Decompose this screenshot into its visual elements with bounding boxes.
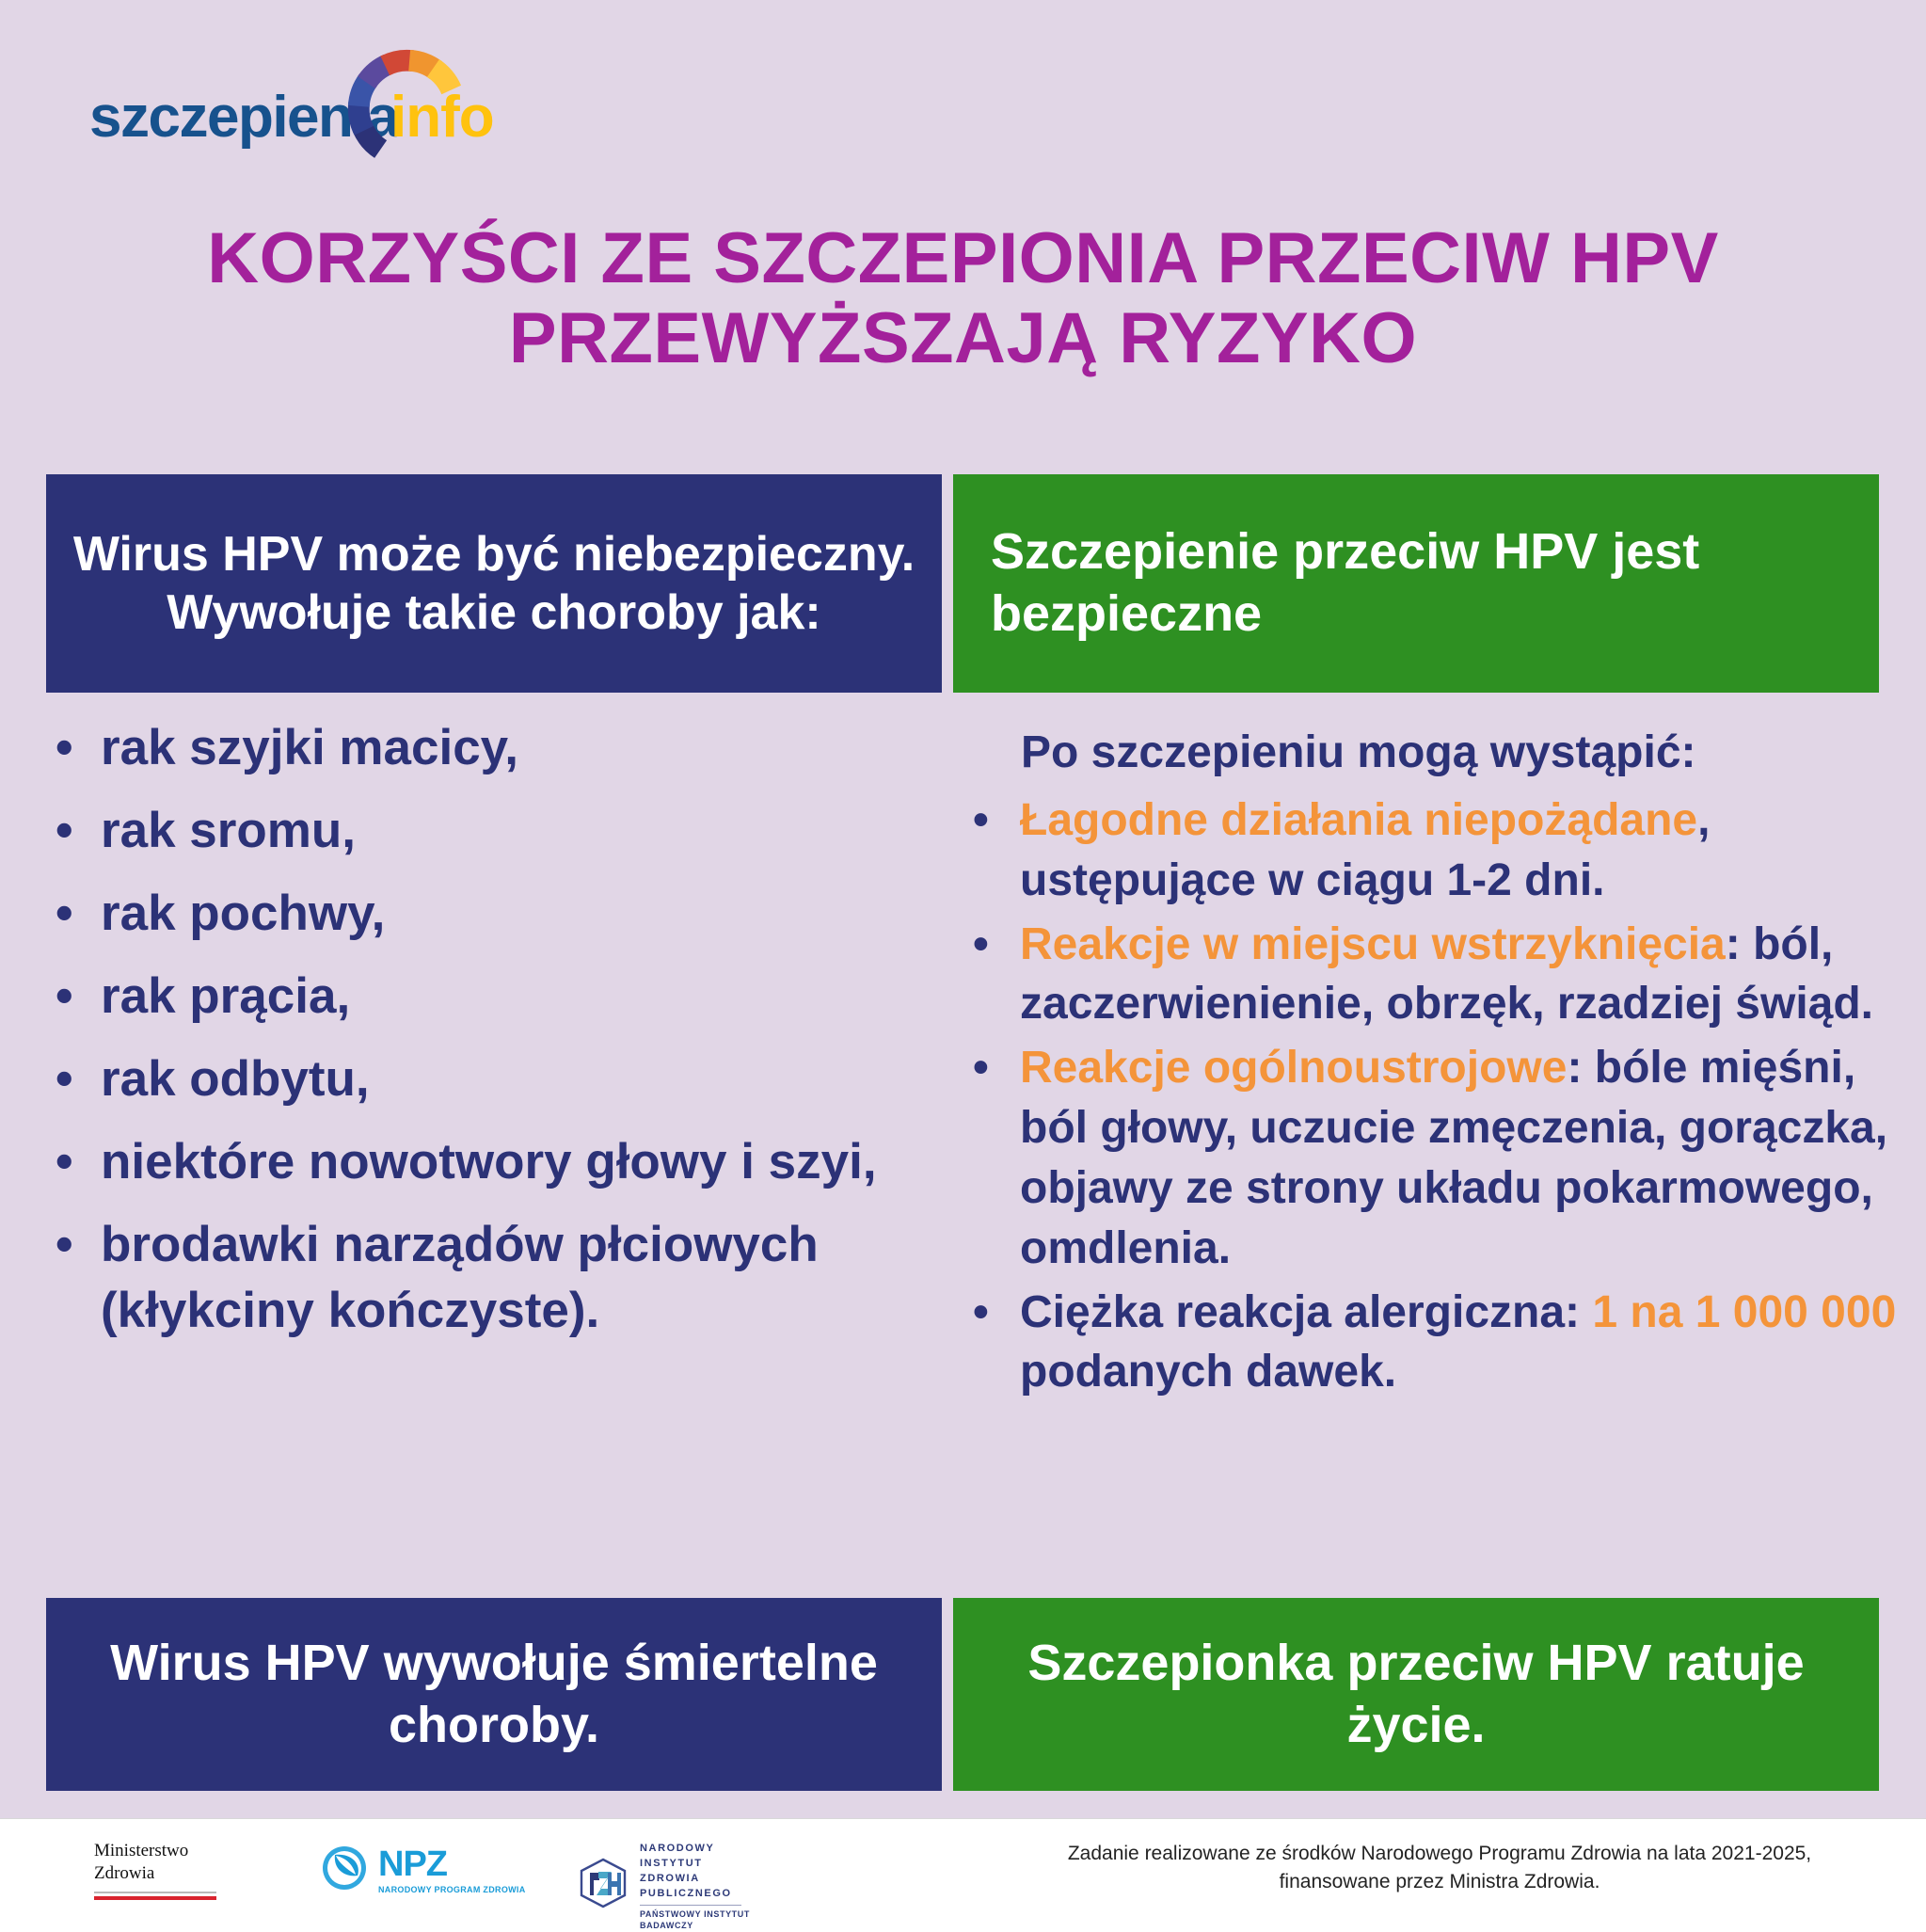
polish-flag-white-rule-icon <box>94 1892 216 1893</box>
list-item: rak sromu, <box>46 798 949 864</box>
list-item-label: rak odbytu, <box>101 1051 370 1107</box>
list-item-highlight: Łagodne działania niepożądane <box>1020 795 1697 845</box>
pzh-line3: ZDROWIA <box>640 1872 750 1887</box>
list-item: Ciężka reakcja alergiczna: 1 na 1 000 00… <box>960 1283 1901 1403</box>
left-panel-footer: Wirus HPV wywołuje śmiertelne choroby. <box>46 1598 942 1791</box>
right-panel-header: Szczepienie przeciw HPV jest bezpieczne <box>953 474 1879 693</box>
pzh-text: NARODOWY INSTYTUT ZDROWIA PUBLICZNEGO PA… <box>640 1842 750 1932</box>
list-item: rak odbytu, <box>46 1046 949 1112</box>
pzh-divider <box>640 1905 741 1906</box>
page-title-line2: PRZEWYŻSZAJĄ RYZYKO <box>0 298 1926 378</box>
funding-line1: Zadanie realizowane ze środków Narodoweg… <box>1016 1840 1863 1868</box>
list-item-prefix: Ciężka reakcja alergiczna: <box>1020 1287 1592 1337</box>
list-item-label: rak sromu, <box>101 803 356 858</box>
brand-info-wordmark: info <box>390 88 494 147</box>
list-item-highlight: Reakcje w miejscu wstrzyknięcia <box>1020 919 1726 969</box>
brand-logo[interactable]: szczepienia info <box>89 45 579 172</box>
side-effects-intro: Po szczepieniu mogą wystąpić: <box>1021 725 1896 781</box>
page-title: KORZYŚCI ZE SZCZEPIONIA PRZECIW HPV PRZE… <box>0 218 1926 378</box>
list-item: Reakcje w miejscu wstrzyknięcia: ból, za… <box>960 915 1901 1035</box>
funding-line2: finansowane przez Ministra Zdrowia. <box>1016 1868 1863 1896</box>
list-item-label: podanych dawek. <box>1020 1347 1396 1397</box>
list-item-label: niektóre nowotwory głowy i szyi, <box>101 1134 877 1190</box>
left-panel-footer-text: Wirus HPV wywołuje śmiertelne choroby. <box>69 1633 919 1757</box>
pzh-line4: PUBLICZNEGO <box>640 1887 750 1902</box>
list-item: brodawki narządów płciowych (kłykciny ko… <box>46 1212 949 1344</box>
pzh-logo: NARODOWY INSTYTUT ZDROWIA PUBLICZNEGO PA… <box>576 1842 750 1932</box>
disease-list: rak szyjki macicy, rak sromu, rak pochwy… <box>46 715 949 1361</box>
list-item-label: rak szyjki macicy, <box>101 720 518 775</box>
list-item: rak pochwy, <box>46 881 949 947</box>
left-panel-header: Wirus HPV może być niebezpieczny. Wywołu… <box>46 474 942 693</box>
right-panel-footer: Szczepionka przeciw HPV ratuje życie. <box>953 1598 1879 1791</box>
npz-text: NPZ NARODOWY PROGRAM ZDROWIA <box>378 1846 526 1894</box>
ministry-name-line1: Ministerstwo <box>94 1840 282 1862</box>
ministry-of-health-logo: Ministerstwo Zdrowia <box>94 1840 282 1900</box>
side-effects-list: Łagodne działania niepożądane, ustępując… <box>960 790 1901 1406</box>
pzh-line2: INSTYTUT <box>640 1857 750 1872</box>
npz-acronym: NPZ <box>378 1846 526 1882</box>
list-item-highlight: 1 na 1 000 000 <box>1592 1287 1896 1337</box>
page-title-line1: KORZYŚCI ZE SZCZEPIONIA PRZECIW HPV <box>0 218 1926 298</box>
list-item: Reakcje ogólnoustrojowe: bóle mięśni, bó… <box>960 1038 1901 1278</box>
pzh-sub1: PAŃSTWOWY INSTYTUT <box>640 1908 750 1921</box>
list-item-highlight: Reakcje ogólnoustrojowe <box>1020 1043 1567 1093</box>
npz-logo: NPZ NARODOWY PROGRAM ZDROWIA <box>320 1844 526 1897</box>
list-item: niektóre nowotwory głowy i szyi, <box>46 1129 949 1195</box>
polish-flag-red-rule-icon <box>94 1896 216 1900</box>
list-item-label: rak prącia, <box>101 968 350 1024</box>
footer-bar: Ministerstwo Zdrowia NPZ NARODOWY PROGRA… <box>0 1818 1926 1927</box>
pzh-line1: NARODOWY <box>640 1842 750 1857</box>
right-panel-header-text: Szczepienie przeciw HPV jest bezpieczne <box>991 521 1841 646</box>
funding-statement: Zadanie realizowane ze środków Narodoweg… <box>1016 1840 1863 1897</box>
list-item-label: brodawki narządów płciowych (kłykciny ko… <box>101 1217 819 1338</box>
pzh-sub2: BADAWCZY <box>640 1920 750 1932</box>
pzh-monogram-icon <box>576 1857 630 1916</box>
left-panel-header-text: Wirus HPV może być niebezpieczny. Wywołu… <box>71 525 917 643</box>
right-panel-footer-text: Szczepionka przeciw HPV ratuje życie. <box>976 1633 1856 1757</box>
npz-subtitle: NARODOWY PROGRAM ZDROWIA <box>378 1885 526 1894</box>
list-item: rak prącia, <box>46 964 949 1030</box>
npz-leaf-circle-icon <box>320 1844 369 1897</box>
list-item: Łagodne działania niepożądane, ustępując… <box>960 790 1901 911</box>
infographic-poster: szczepienia info KORZYŚCI Z <box>0 0 1926 1927</box>
list-item: rak szyjki macicy, <box>46 715 949 781</box>
ministry-name-line2: Zdrowia <box>94 1862 282 1885</box>
list-item-label: rak pochwy, <box>101 886 385 941</box>
